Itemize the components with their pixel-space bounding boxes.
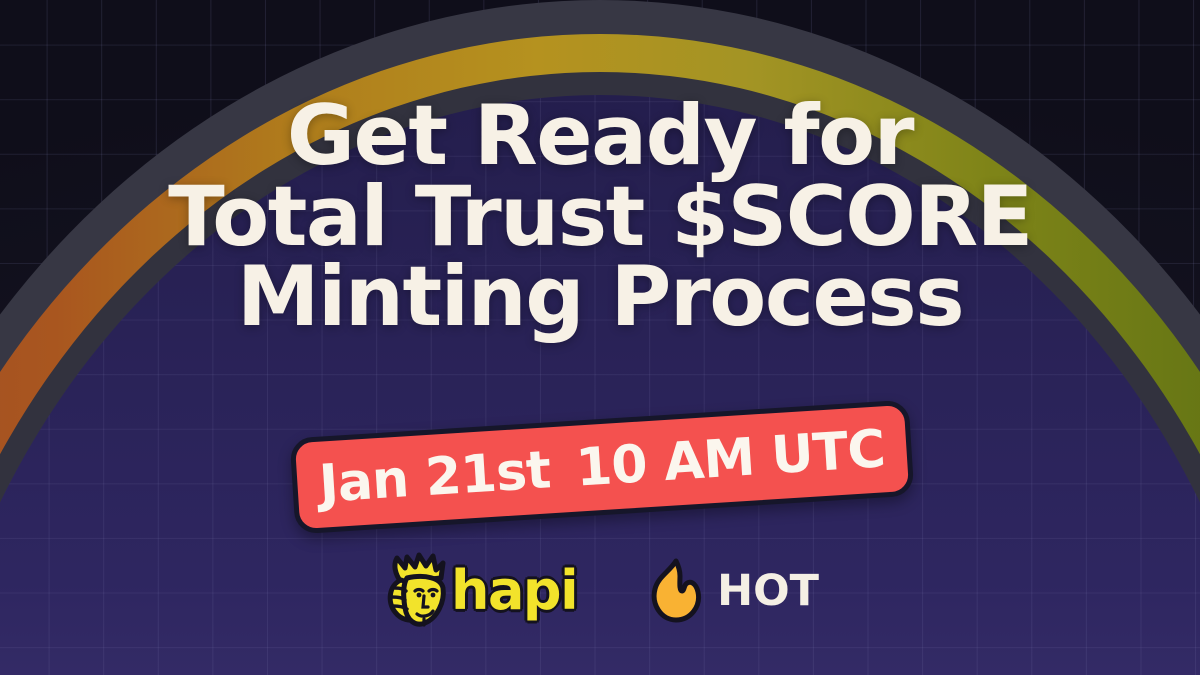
page-title: Get Ready for Total Trust $SCORE Minting… (0, 96, 1200, 338)
flame-icon (649, 558, 703, 624)
badge-date-text: Jan 21st (318, 444, 552, 510)
badge-time-text: 10 AM UTC (574, 423, 886, 494)
hot-wordmark: HOT (717, 570, 819, 613)
partner-logos-row: hapi HOT (0, 550, 1200, 632)
hapi-wordmark: hapi (451, 564, 577, 618)
hapi-logo: hapi (381, 552, 587, 630)
hapi-mask-icon (381, 552, 455, 630)
promo-banner: Get Ready for Total Trust $SCORE Minting… (0, 0, 1200, 675)
headline-line-3: Minting Process (8, 257, 1192, 338)
headline-line-2: Total Trust $SCORE (8, 177, 1192, 258)
headline-line-1: Get Ready for (8, 96, 1192, 177)
hot-logo: HOT (649, 558, 819, 624)
